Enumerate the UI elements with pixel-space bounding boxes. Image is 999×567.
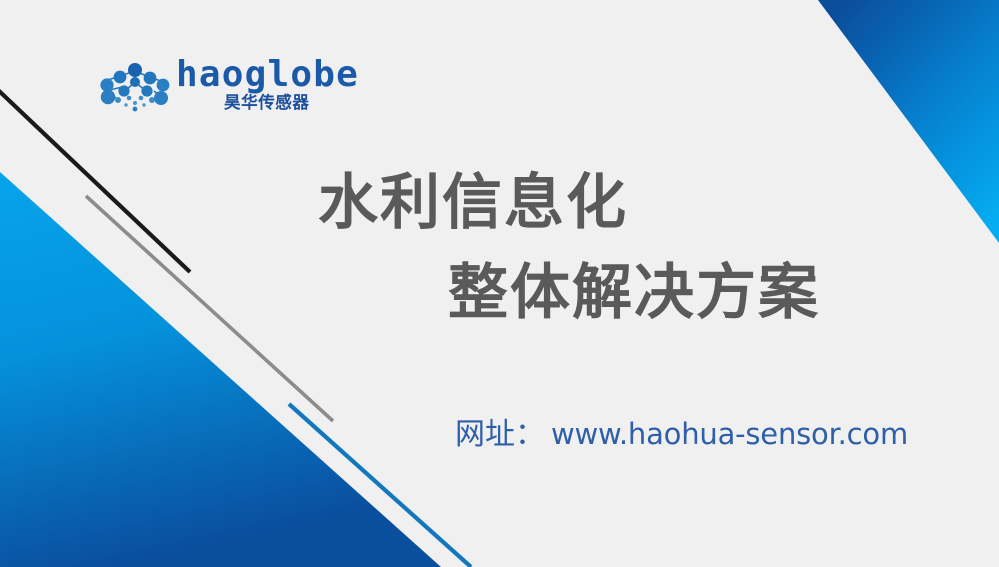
slide-canvas: haoglobe 昊华传感器 水利信息化 整体解决方案 网址： www.haoh… bbox=[0, 0, 999, 567]
page-title-line-2: 整体解决方案 bbox=[448, 258, 820, 327]
website-label: 网址： bbox=[455, 420, 545, 450]
right-blue-triangle bbox=[818, 0, 999, 243]
brand-wordmark: haoglobe bbox=[176, 57, 359, 93]
website-row: 网址： www.haohua-sensor.com bbox=[455, 420, 908, 450]
website-url[interactable]: www.haohua-sensor.com bbox=[551, 420, 908, 449]
brand-chinese-name: 昊华传感器 bbox=[224, 95, 310, 112]
brand-logo: haoglobe 昊华传感器 bbox=[96, 58, 311, 120]
page-title-line-1: 水利信息化 bbox=[318, 168, 628, 237]
network-dots-logo-icon bbox=[96, 60, 174, 112]
